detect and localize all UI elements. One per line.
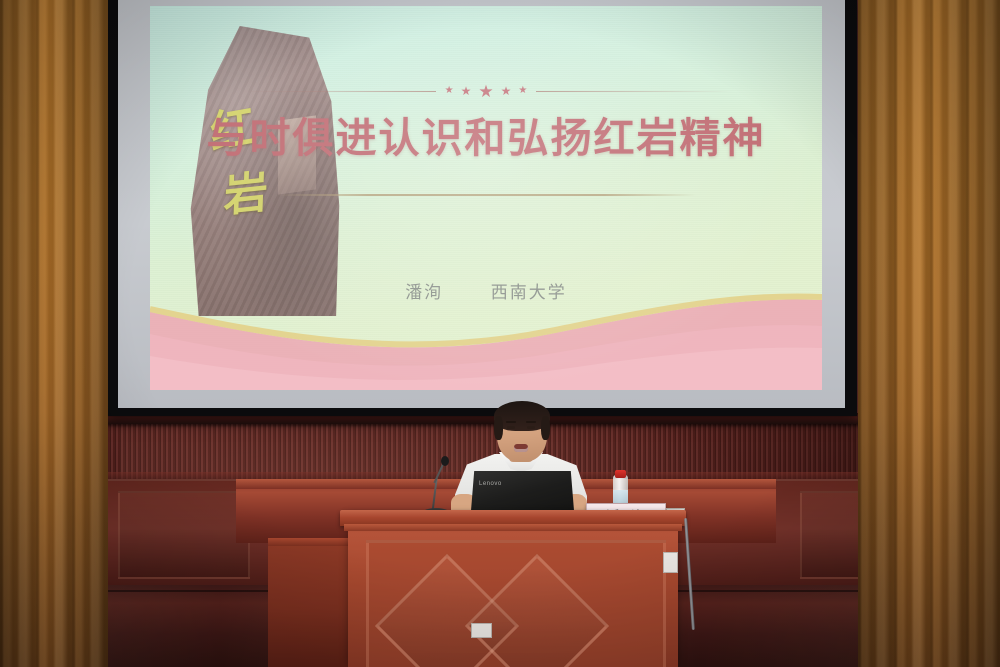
podium-label-sticker [663,552,678,573]
speaker-eyebrow-right [526,421,536,423]
speaker-eye-right [527,426,535,429]
speaker-eye-left [507,426,515,429]
podium-side-wing [268,538,350,667]
podium-lip-moulding [344,524,682,531]
presentation-slide: 红 岩 ★ ★ ★ ★ ★ 与时俱进认识和弘扬红岩精神 潘洵 西南大学 [150,6,822,390]
speaker-hair-left [494,416,503,440]
curtain-left-shading [0,0,108,667]
lecture-hall-scene: 红 岩 ★ ★ ★ ★ ★ 与时俱进认识和弘扬红岩精神 潘洵 西南大学 [0,0,1000,667]
speaker-eyebrow-left [506,421,516,423]
podium-side-wing-edge [268,538,350,546]
speaker-mouth [514,444,528,452]
speaker-hair-right [541,416,550,440]
curtain-right [858,0,1000,667]
water-bottle-cap [615,470,626,478]
laptop-brand-logo: Lenovo [479,481,502,487]
water-bottle-label [613,490,628,503]
podium-label-sticker-lower [471,623,492,638]
curtain-right-shading [858,0,1000,667]
microphone-head [441,456,449,466]
projector-glow [150,6,822,390]
curtain-left [0,0,108,667]
wainscot-panel [118,491,250,579]
